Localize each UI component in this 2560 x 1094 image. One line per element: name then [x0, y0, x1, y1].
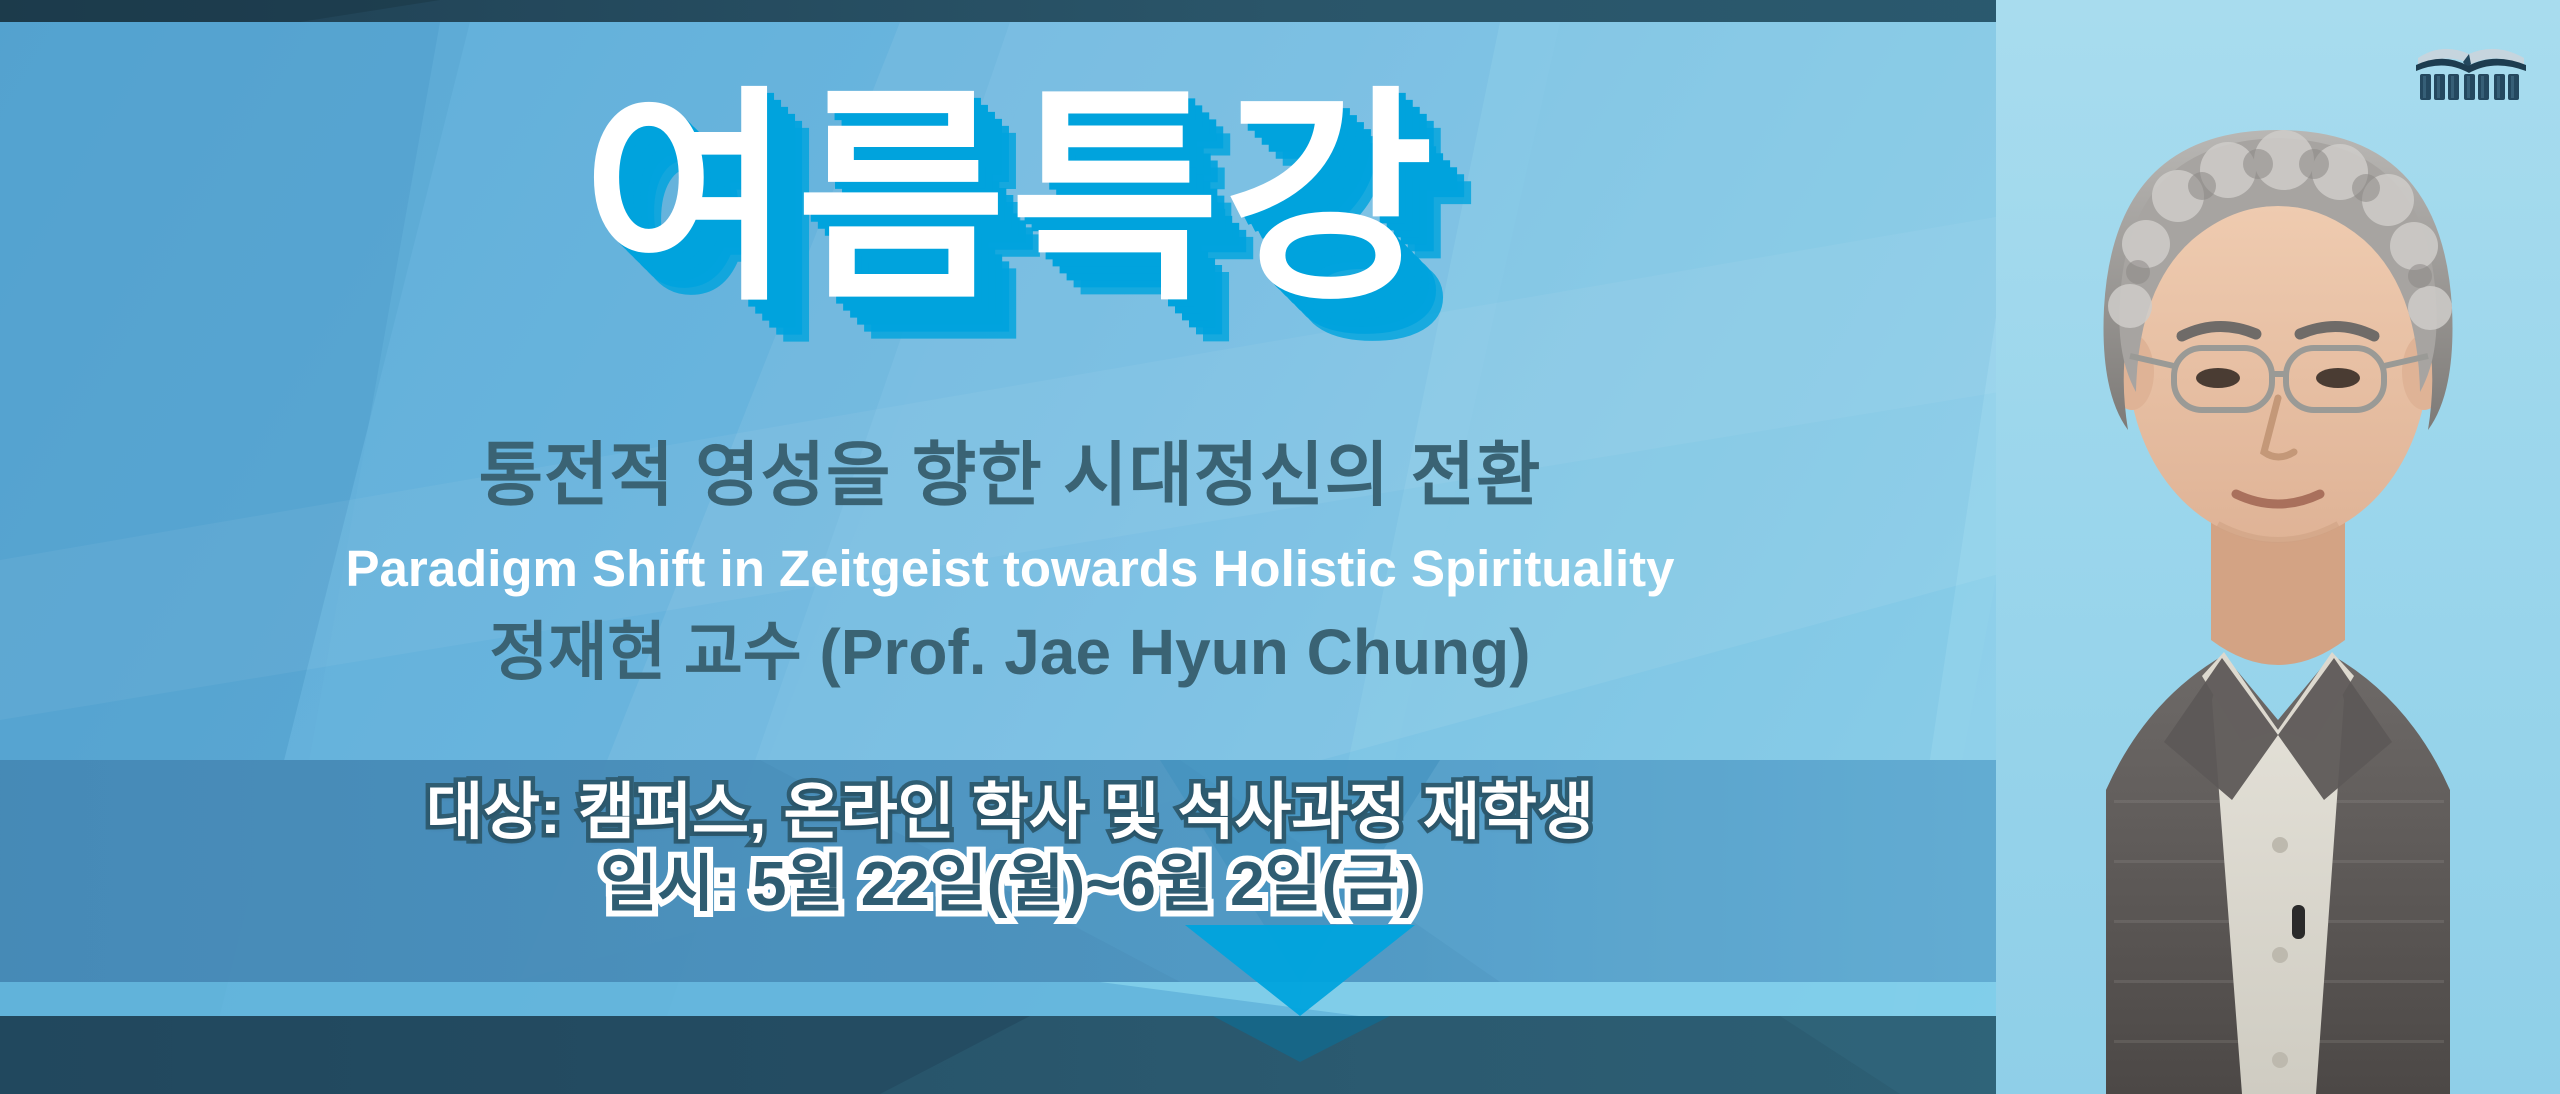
poster-speaker-name: 정재현 교수 (Prof. Jae Hyun Chung)	[0, 620, 2020, 684]
portrait-illustration	[1996, 0, 2560, 1094]
summer-lecture-poster: 여름특강 통전적 영성을 향한 시대정신의 전환 Paradigm Shift …	[0, 0, 2560, 1094]
poster-subtitle-english: Paradigm Shift in Zeitgeist towards Holi…	[0, 543, 2020, 594]
poster-audience-line: 대상: 캠퍼스, 온라인 학사 및 석사과정 재학생	[0, 780, 2020, 846]
speaker-portrait	[1996, 0, 2560, 1094]
poster-info-block: 대상: 캠퍼스, 온라인 학사 및 석사과정 재학생 일시: 5월 22일(월)…	[0, 780, 2020, 919]
wmu-logo-icon	[2412, 24, 2530, 102]
poster-headline: 여름특강	[0, 86, 2020, 314]
poster-date-line: 일시: 5월 22일(월)~6월 2일(금)	[0, 852, 2020, 918]
poster-subtitle-korean: 통전적 영성을 향한 시대정신의 전환	[0, 440, 2020, 510]
